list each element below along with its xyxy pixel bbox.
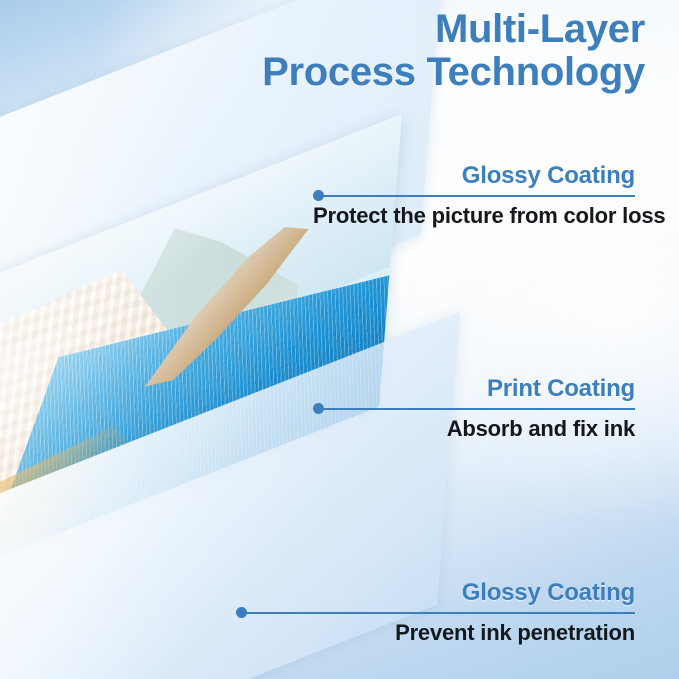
callout-heading: Glossy Coating [313,163,635,189]
leader-line [321,195,635,197]
page-title: Multi-Layer Process Technology [0,8,679,94]
callout-glossy-coating-bottom: Glossy Coating Prevent ink penetration [236,580,635,646]
page-title-line-1: Multi-Layer [0,8,645,51]
page-title-line-2: Process Technology [0,51,645,94]
callout-heading: Glossy Coating [236,580,635,606]
callout-description: Prevent ink penetration [236,620,635,645]
callout-print-coating: Print Coating Absorb and fix ink [313,376,635,442]
layer-stack-illustration [0,0,679,679]
leader-line [244,612,635,614]
callout-leader-line [236,606,635,620]
callout-description: Absorb and fix ink [313,416,635,441]
callout-description: Protect the picture from color loss [313,203,635,228]
infographic-canvas: Multi-Layer Process Technology Glossy Co… [0,0,679,679]
callout-glossy-coating-top: Glossy Coating Protect the picture from … [313,163,635,229]
callout-leader-line [313,402,635,416]
callout-leader-line [313,189,635,203]
callout-heading: Print Coating [313,376,635,402]
leader-line [321,408,635,410]
